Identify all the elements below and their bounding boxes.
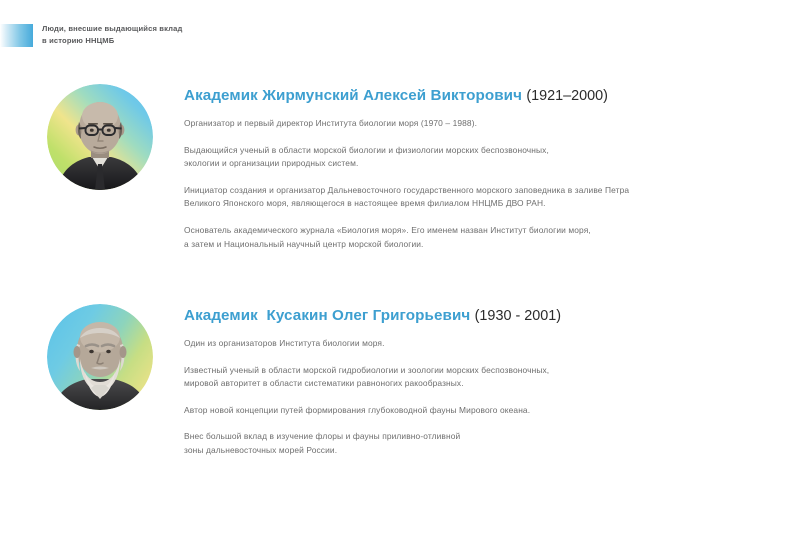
person-entry: Академик Кусакин Олег Григорьевич (1930 … [0, 304, 800, 458]
person-paragraph: Основатель академического журнала «Биоло… [184, 224, 749, 251]
person-body: Академик Кусакин Олег Григорьевич (1930 … [184, 304, 749, 458]
person-paragraph: Внес большой вклад в изучение флоры и фа… [184, 430, 749, 457]
portrait-photo-zhirmunsky [47, 84, 153, 190]
person-name-heading: Академик Жирмунский Алексей Викторович (… [184, 86, 749, 106]
gradient-bar-icon [0, 24, 33, 47]
person-entry: Академик Жирмунский Алексей Викторович (… [0, 84, 800, 251]
avatar [47, 84, 153, 190]
person-name-text: Академик Кусакин Олег Григорьевич [184, 307, 470, 324]
page-title-line-2: в историю ННЦМБ [42, 35, 182, 47]
portrait-photo-kusakin [47, 304, 153, 410]
person-years: (1921–2000) [526, 88, 608, 104]
person-paragraph: Организатор и первый директор Института … [184, 117, 749, 131]
person-name-text: Академик Жирмунский Алексей Викторович [184, 87, 522, 104]
person-paragraph: Один из организаторов Института биологии… [184, 337, 749, 351]
person-body: Академик Жирмунский Алексей Викторович (… [184, 84, 749, 251]
person-years: (1930 - 2001) [475, 308, 561, 324]
person-paragraph: Выдающийся ученый в области морской биол… [184, 144, 749, 171]
page-header: Люди, внесшие выдающийся вклад в историю… [0, 24, 182, 47]
page-title-line-1: Люди, внесшие выдающийся вклад [42, 24, 182, 33]
person-paragraph: Известный ученый в области морской гидро… [184, 364, 749, 391]
person-paragraph: Автор новой концепции путей формирования… [184, 404, 749, 418]
page-title: Люди, внесшие выдающийся вклад в историю… [42, 23, 182, 46]
avatar [47, 304, 153, 410]
person-name-heading: Академик Кусакин Олег Григорьевич (1930 … [184, 306, 749, 326]
person-paragraph: Инициатор создания и организатор Дальнев… [184, 184, 749, 211]
